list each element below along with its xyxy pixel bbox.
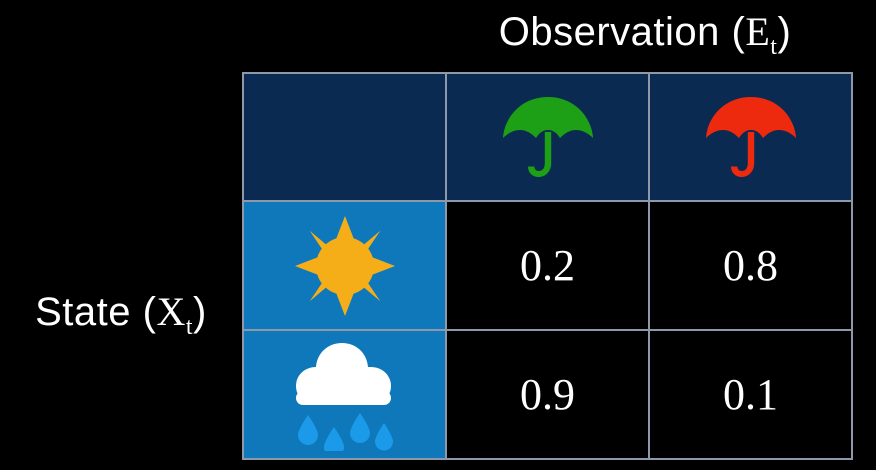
probability-cell-rainy-no-umbrella: 0.9 <box>446 330 649 459</box>
red-umbrella-icon <box>703 91 799 183</box>
state-label-prefix: State ( <box>35 290 156 334</box>
observation-variable: E <box>745 9 770 54</box>
column-header-umbrella <box>649 73 852 201</box>
green-umbrella-icon <box>500 91 596 183</box>
observation-label-prefix: Observation ( <box>499 10 746 54</box>
state-label-suffix: ) <box>193 290 207 334</box>
probability-cell-sunny-no-umbrella: 0.2 <box>446 201 649 330</box>
table-row: 0.9 0.1 <box>243 330 852 459</box>
raindrops <box>298 413 393 451</box>
sun-icon <box>291 214 399 318</box>
row-header-rainy <box>243 330 446 459</box>
observation-axis-label: Observation (Et) <box>440 8 850 61</box>
state-variable: X <box>156 289 185 334</box>
matrix-corner-cell <box>243 73 446 201</box>
table-row: 0.2 0.8 <box>243 201 852 330</box>
state-axis-label: State (Xt) <box>8 288 234 341</box>
probability-cell-sunny-umbrella: 0.8 <box>649 201 852 330</box>
state-variable-subscript: t <box>186 314 193 340</box>
probability-cell-rainy-umbrella: 0.1 <box>649 330 852 459</box>
column-header-no-umbrella <box>446 73 649 201</box>
observation-label-suffix: ) <box>777 10 791 54</box>
row-header-sunny <box>243 201 446 330</box>
sensor-model-matrix: 0.2 0.8 <box>242 72 853 460</box>
rain-cloud-icon <box>282 339 408 451</box>
table-header-row <box>243 73 852 201</box>
